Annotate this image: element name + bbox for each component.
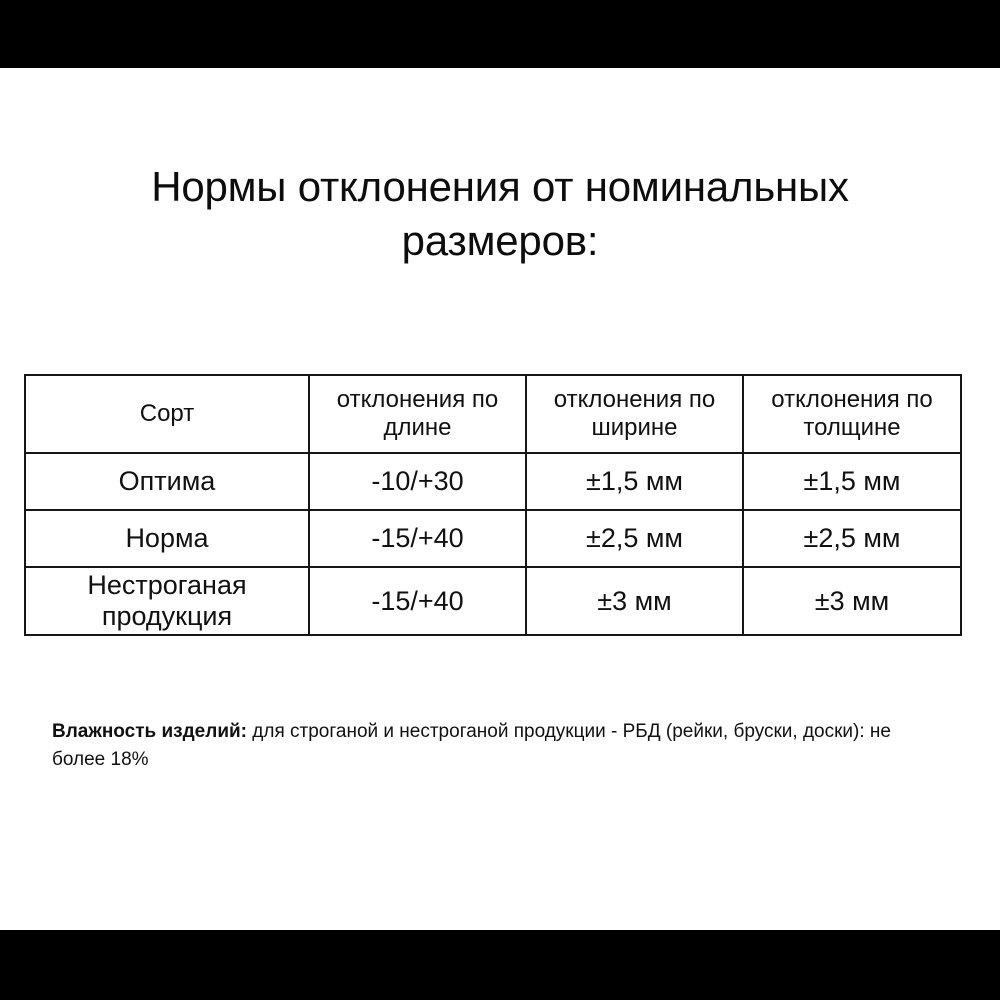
- column-header-length: отклонения по длине: [309, 375, 526, 453]
- cell-grade: Оптима: [25, 453, 309, 510]
- table-row: Норма -15/+40 ±2,5 мм ±2,5 мм: [25, 510, 961, 567]
- cell-length: -15/+40: [309, 510, 526, 567]
- cell-thickness: ±2,5 мм: [743, 510, 961, 567]
- letterbox-bottom-bar: [0, 930, 1000, 1000]
- cell-grade: Норма: [25, 510, 309, 567]
- cell-width: ±3 мм: [526, 567, 743, 635]
- page-title: Нормы отклонения от номинальных размеров…: [60, 160, 940, 268]
- table-body: Оптима -10/+30 ±1,5 мм ±1,5 мм Норма -15…: [25, 453, 961, 635]
- column-header-thickness: отклонения по толщине: [743, 375, 961, 453]
- table-header: Сорт отклонения по длине отклонения по ш…: [25, 375, 961, 453]
- table-row: Нестроганая продукция -15/+40 ±3 мм ±3 м…: [25, 567, 961, 635]
- deviation-norms-table: Сорт отклонения по длине отклонения по ш…: [24, 374, 962, 636]
- table-header-row: Сорт отклонения по длине отклонения по ш…: [25, 375, 961, 453]
- cell-width: ±1,5 мм: [526, 453, 743, 510]
- cell-length: -15/+40: [309, 567, 526, 635]
- cell-grade: Нестроганая продукция: [25, 567, 309, 635]
- letterbox-top-bar: [0, 0, 1000, 68]
- cell-thickness: ±3 мм: [743, 567, 961, 635]
- table-row: Оптима -10/+30 ±1,5 мм ±1,5 мм: [25, 453, 961, 510]
- cell-thickness: ±1,5 мм: [743, 453, 961, 510]
- footnote-label: Влажность изделий:: [52, 721, 247, 742]
- cell-length: -10/+30: [309, 453, 526, 510]
- slide-canvas: Нормы отклонения от номинальных размеров…: [0, 68, 1000, 930]
- column-header-grade: Сорт: [25, 375, 309, 453]
- cell-width: ±2,5 мм: [526, 510, 743, 567]
- moisture-footnote: Влажность изделий: для строганой и нестр…: [52, 718, 932, 773]
- column-header-width: отклонения по ширине: [526, 375, 743, 453]
